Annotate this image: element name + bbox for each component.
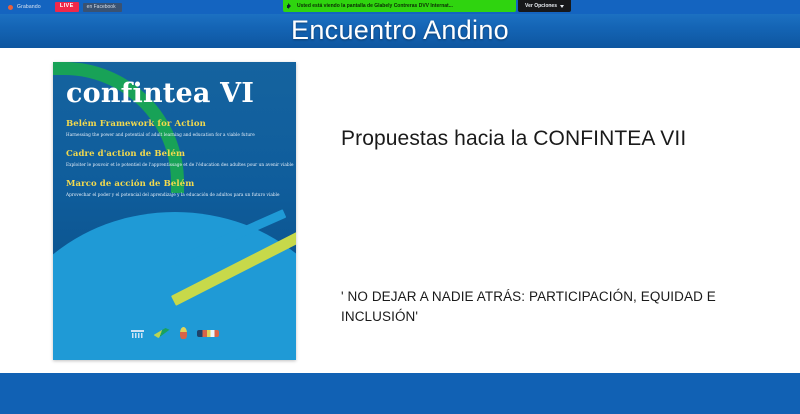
slide-heading: Propuestas hacia la CONFINTEA VII — [341, 126, 771, 151]
screen-share-notice: Usted está viendo la pantalla de Glabely… — [283, 0, 516, 12]
cover-heading-spanish: Marco de acción de Belém — [66, 180, 280, 190]
slide-canvas: confintea VI Belém Framework for Action … — [0, 48, 800, 373]
cover-sub-spanish: Aprovechar el poder y el potencial del a… — [66, 192, 280, 198]
screen-share-strip: Usted está viendo la pantalla de Glabely… — [283, 0, 571, 12]
confintea-swoosh-icon — [154, 326, 170, 341]
cover-sub-english: Harnessing the power and potential of ad… — [66, 132, 255, 138]
cover-heading-english: Belém Framework for Action — [66, 120, 255, 130]
cover-block-french: Cadre d'action de Belém Exploiter le pou… — [66, 150, 294, 168]
cover-partner-logos — [53, 320, 296, 346]
presentation-title: Encuentro Andino — [291, 17, 509, 44]
chevron-down-icon — [560, 5, 564, 8]
bottom-background-strip — [0, 402, 800, 414]
live-badge: LIVE — [55, 2, 79, 12]
speaker-icon — [287, 3, 294, 10]
screen-share-notice-text: Usted está viendo la pantalla de Glabely… — [297, 3, 453, 9]
cover-block-spanish: Marco de acción de Belém Aprovechar el p… — [66, 180, 280, 198]
unesco-temple-icon — [131, 326, 144, 341]
slide-quote: ' NO DEJAR A NADIE ATRÁS: PARTICIPACIÓN,… — [341, 287, 741, 326]
confintea-vi-book-cover: confintea VI Belém Framework for Action … — [53, 62, 296, 360]
colorbars-icon — [197, 326, 219, 341]
cover-heading-french: Cadre d'action de Belém — [66, 150, 294, 160]
view-options-button[interactable]: Ver Opciones — [518, 0, 571, 12]
recording-label: Grabando — [17, 4, 41, 10]
cover-block-english: Belém Framework for Action Harnessing th… — [66, 120, 255, 138]
cover-title: confintea VI — [66, 80, 254, 107]
presentation-title-banner: Encuentro Andino — [0, 12, 800, 48]
on-facebook-label: en Facebook — [83, 3, 122, 12]
recording-indicator-icon — [8, 5, 13, 10]
flame-icon — [180, 326, 187, 341]
view-options-label: Ver Opciones — [525, 3, 557, 9]
cover-sub-french: Exploiter le pouvoir et le potentiel de … — [66, 162, 294, 168]
